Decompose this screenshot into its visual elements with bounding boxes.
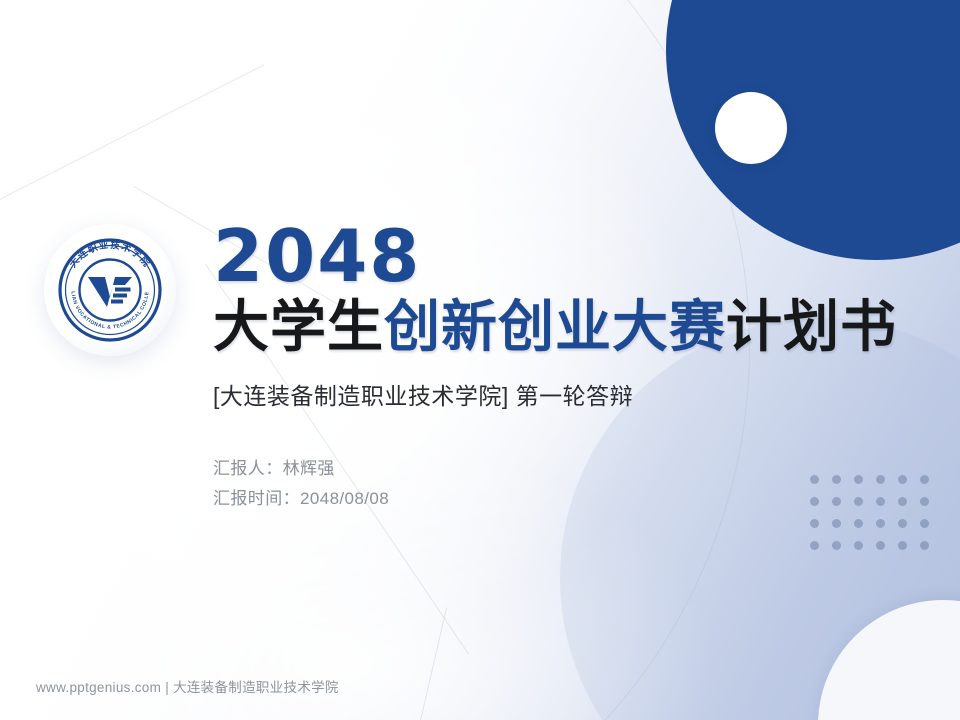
footer-credit: www.pptgenius.com | 大连装备制造职业技术学院	[36, 676, 339, 696]
grid-dot	[876, 541, 885, 550]
date-line: 汇报时间：2048/08/08	[213, 484, 913, 513]
cover-text-block: 2048 大学生创新创业大赛计划书 [大连装备制造职业技术学院] 第一轮答辩 汇…	[213, 222, 913, 513]
grid-dot	[854, 519, 863, 528]
subtitle: [大连装备制造职业技术学院] 第一轮答辩	[213, 382, 913, 412]
grid-dot	[898, 519, 907, 528]
grid-dot	[920, 497, 929, 506]
grid-dot	[810, 541, 819, 550]
grid-dot	[876, 519, 885, 528]
grid-dot	[832, 541, 841, 550]
presentation-meta: 汇报人：林辉强 汇报时间：2048/08/08	[213, 454, 913, 512]
headline-part-0: 大学生	[213, 295, 384, 358]
white-dot-shape	[715, 92, 787, 164]
presenter-line: 汇报人：林辉强	[213, 454, 913, 483]
headline: 大学生创新创业大赛计划书	[213, 297, 913, 356]
grid-dot	[920, 519, 929, 528]
grid-dot	[832, 519, 841, 528]
grid-dot	[920, 475, 929, 484]
presentation-cover-slide: 大连职业技术学院 DALIAN VOCATIONAL & TECHNICAL C…	[0, 0, 960, 720]
grid-dot	[920, 541, 929, 550]
college-logo: 大连职业技术学院 DALIAN VOCATIONAL & TECHNICAL C…	[55, 235, 165, 345]
headline-part-2: 计划书	[726, 295, 897, 358]
grid-dot	[898, 541, 907, 550]
headline-part-1: 创新创业大赛	[384, 295, 726, 358]
grid-dot	[810, 519, 819, 528]
grid-dot	[854, 541, 863, 550]
year-title: 2048	[213, 222, 913, 291]
